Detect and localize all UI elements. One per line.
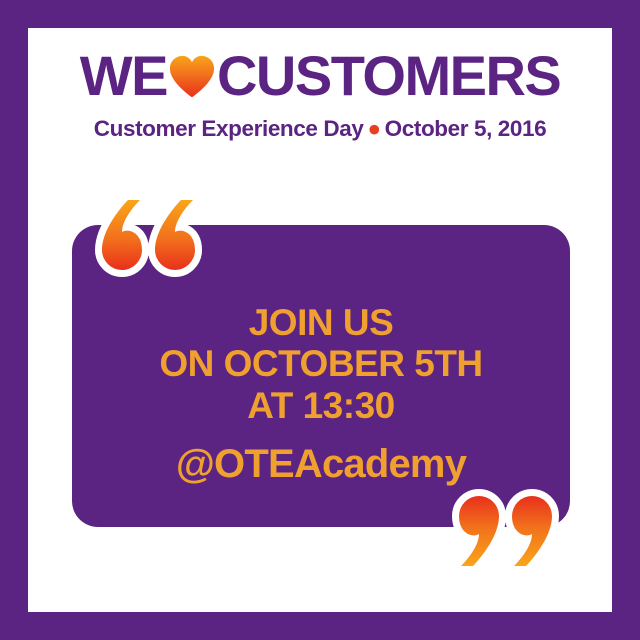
poster: WE CUSTOMERS Customer Experience Day●Oc: [0, 0, 640, 640]
invitation-line-1: JOIN US: [159, 302, 482, 343]
invitation-lines: JOIN US ON OCTOBER 5TH AT 13:30: [159, 302, 482, 426]
subtitle: Customer Experience Day●October 5, 2016: [0, 118, 640, 141]
subtitle-left-text: Customer Experience Day: [94, 116, 364, 141]
headline: WE CUSTOMERS: [0, 48, 640, 104]
headline-customers: CUSTOMERS: [217, 48, 560, 104]
invitation-line-3: AT 13:30: [159, 385, 482, 426]
social-handle: @OTEAcademy: [176, 444, 466, 484]
headline-we: WE: [80, 48, 167, 104]
subtitle-bullet-icon: ●: [363, 116, 384, 141]
heart-icon: [169, 54, 215, 100]
quote-card-content: JOIN US ON OCTOBER 5TH AT 13:30 @OTEAcad…: [72, 225, 570, 527]
subtitle-right-text: October 5, 2016: [385, 116, 547, 141]
invitation-line-2: ON OCTOBER 5TH: [159, 343, 482, 384]
poster-header: WE CUSTOMERS Customer Experience Day●Oc: [0, 48, 640, 141]
